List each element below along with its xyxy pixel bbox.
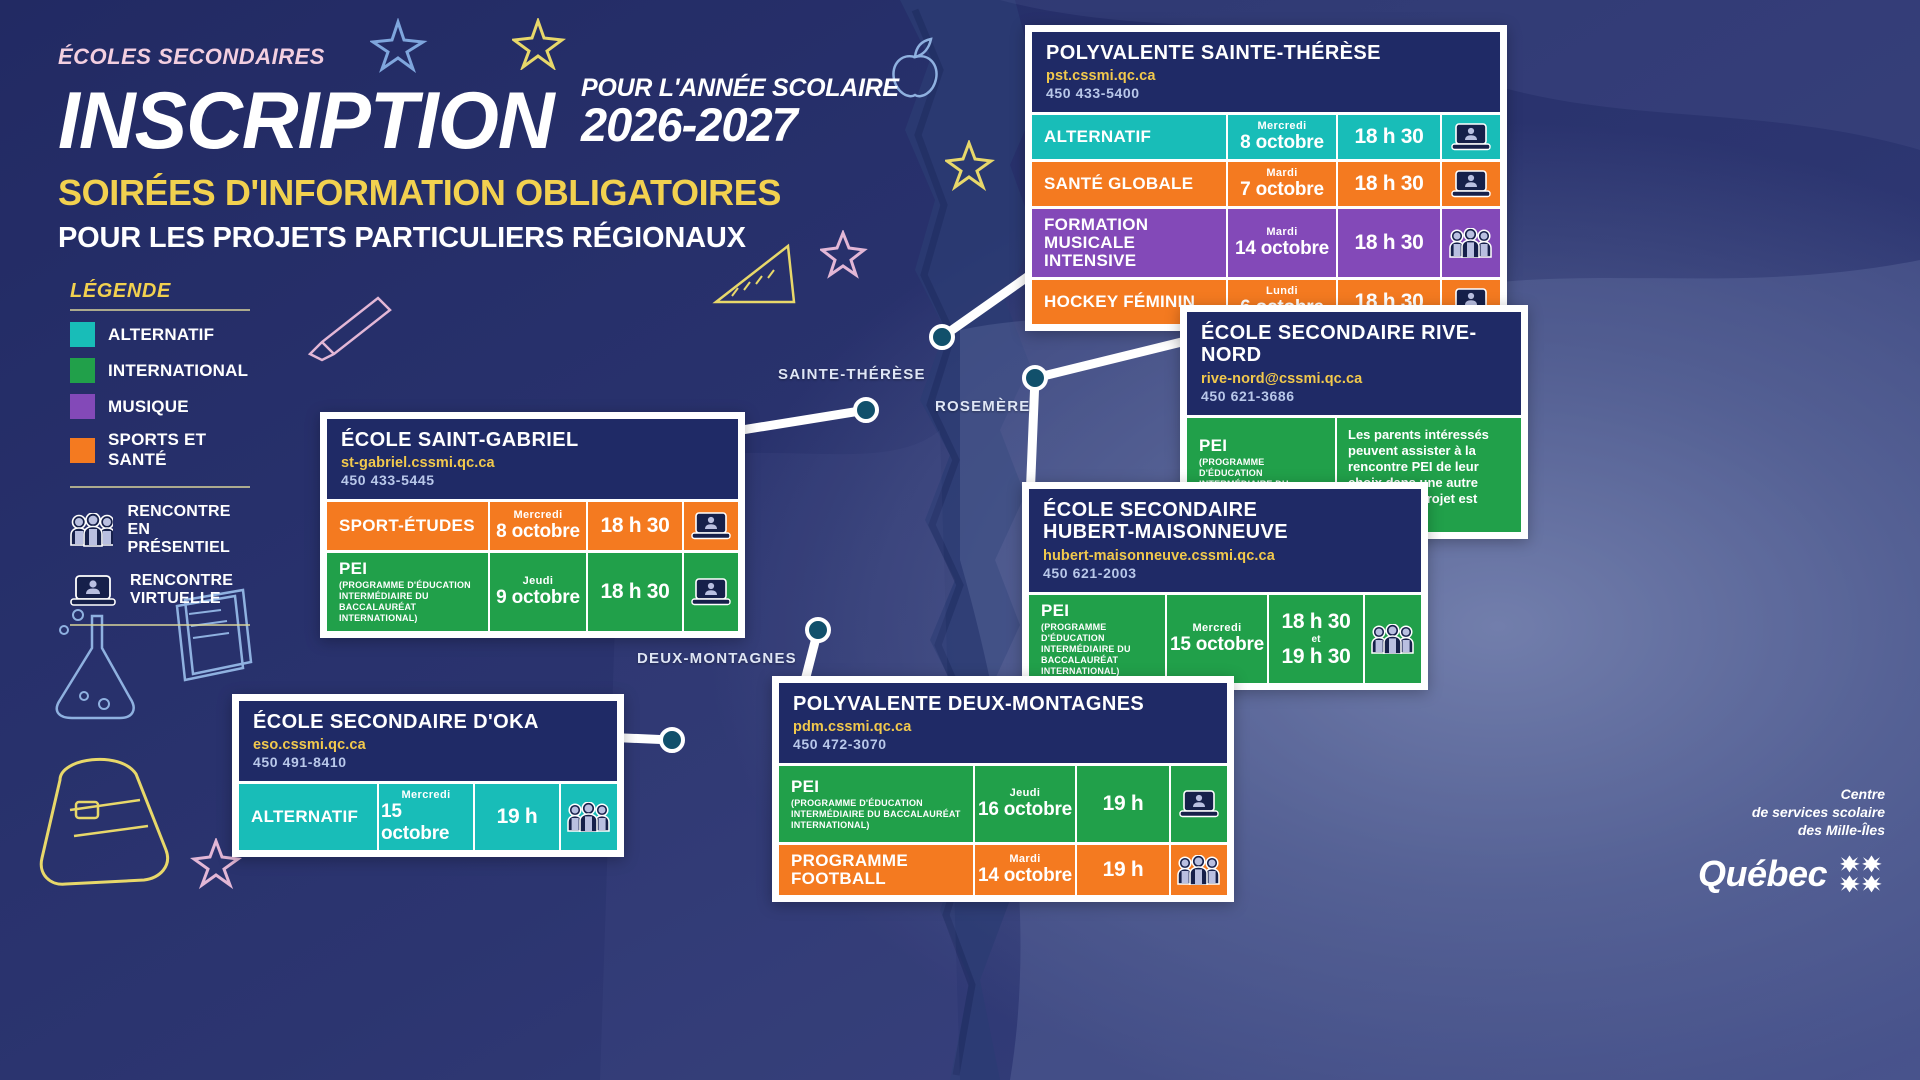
program-date-cell: Mardi 14 octobre [1226,209,1338,277]
school-card-hubert-maisonneuve: ÉCOLE SECONDAIRE HUBERT-MAISONNEUVE hube… [1022,482,1428,690]
laptop-icon [1451,169,1491,199]
school-email[interactable]: rive-nord@cssmi.qc.ca [1201,371,1507,387]
card-header-oka: ÉCOLE SECONDAIRE D'OKA eso.cssmi.qc.ca 4… [239,701,617,781]
date-day: 15 octobre [1170,634,1264,656]
program-row-sante-globale: SANTÉ GLOBALE Mardi 7 octobre 18 h 30 [1032,162,1500,206]
program-name-cell: SPORT-ÉTUDES [327,502,488,550]
date-day: 8 octobre [496,521,580,543]
meeting-type-cell [1442,162,1500,206]
header-kicker: ÉCOLES SECONDAIRES [58,44,958,70]
people-icon [1371,624,1415,654]
school-website[interactable]: pst.cssmi.qc.ca [1046,68,1486,84]
date-weekday: Mercredi [1257,120,1306,132]
school-phone: 450 472-3070 [793,736,1213,752]
school-website[interactable]: eso.cssmi.qc.ca [253,737,603,753]
map-pin-oka [659,727,685,753]
school-card-pdm: POLYVALENTE DEUX-MONTAGNES pdm.cssmi.qc.… [772,676,1234,902]
page-subtitle: SOIRÉES D'INFORMATION OBLIGATOIRES [58,172,958,214]
people-icon [70,513,113,547]
date-day: 15 octobre [381,801,471,845]
program-row-pei: PEI (PROGRAMME D'ÉDUCATION INTERMÉDIAIRE… [327,553,738,631]
program-name-cell: SANTÉ GLOBALE [1032,162,1226,206]
program-date-cell: Mercredi 8 octobre [1226,115,1338,159]
school-phone: 450 433-5400 [1046,85,1486,101]
date-weekday: Mercredi [513,509,562,521]
school-name: ÉCOLE SAINT-GABRIEL [341,429,724,451]
city-label-sainte-therese: SAINTE-THÉRÈSE [778,366,926,383]
school-card-pst: POLYVALENTE SAINTE-THÉRÈSE pst.cssmi.qc.… [1025,25,1507,331]
poster-root: SAINTE-THÉRÈSE ROSEMÈRE DEUX-MONTAGNES O… [0,0,1920,1080]
program-date-cell: Mercredi 15 octobre [1165,595,1269,684]
program-label: PEI [1199,437,1323,455]
meeting-type-cell [684,502,738,550]
people-icon [567,802,611,832]
school-phone: 450 621-2003 [1043,565,1407,581]
date-weekday: Mercredi [1192,622,1241,634]
legend-label-musique: MUSIQUE [108,397,189,417]
cssmi-line-1: Centre [1585,785,1885,803]
card-header-pst: POLYVALENTE SAINTE-THÉRÈSE pst.cssmi.qc.… [1032,32,1500,112]
people-icon [1449,228,1493,258]
date-day: 7 octobre [1240,179,1324,201]
school-phone: 450 621-3686 [1201,388,1507,404]
school-name: POLYVALENTE DEUX-MONTAGNES [793,693,1213,715]
card-header-hubert-maisonneuve: ÉCOLE SECONDAIRE HUBERT-MAISONNEUVE hube… [1029,489,1421,592]
school-card-st-gabriel: ÉCOLE SAINT-GABRIEL st-gabriel.cssmi.qc.… [320,412,745,638]
school-name: ÉCOLE SECONDAIRE HUBERT-MAISONNEUVE [1043,499,1333,544]
people-icon [1177,855,1221,885]
page-title: INSCRIPTION [58,85,554,158]
program-label: SPORT-ÉTUDES [339,517,476,535]
school-website[interactable]: hubert-maisonneuve.cssmi.qc.ca [1043,548,1407,564]
map-pin-saint-gabriel [853,397,879,423]
city-label-rosemere: ROSEMÈRE [935,398,1030,415]
cssmi-line-3: des Mille-Îles [1585,821,1885,839]
map-pin-deux-montagnes [805,617,831,643]
legend-item-musique: MUSIQUE [70,394,250,419]
date-weekday: Lundi [1266,285,1298,297]
meeting-type-cell [1442,209,1500,277]
time-value: 19 h [1103,858,1144,882]
legend-divider-top [70,309,250,311]
school-card-oka: ÉCOLE SECONDAIRE D'OKA eso.cssmi.qc.ca 4… [232,694,624,857]
program-name-cell: FORMATION MUSICALE INTENSIVE [1032,209,1226,277]
program-date-cell: Mercredi 8 octobre [488,502,588,550]
date-weekday: Mercredi [401,789,450,801]
legend: LÉGENDE ALTERNATIF INTERNATIONAL MUSIQUE… [70,280,250,626]
program-name-cell: ALTERNATIF [239,784,377,850]
footer-logo: Centre de services scolaire des Mille-Îl… [1585,785,1885,896]
date-weekday: Jeudi [523,575,554,587]
school-website[interactable]: pdm.cssmi.qc.ca [793,719,1213,735]
program-time-cell: 18 h 30 et 19 h 30 [1269,595,1365,684]
meeting-type-cell [561,784,617,850]
program-date-cell: Jeudi 9 octobre [488,553,588,631]
laptop-icon [70,573,116,607]
date-weekday: Mardi [1266,167,1297,179]
legend-label-presentiel: RENCONTREEN PRÉSENTIEL [127,503,250,557]
legend-swatch-alternatif [70,322,95,347]
program-label: PEI [791,778,961,796]
map-pin-rosemere [1022,365,1048,391]
program-label: FORMATION MUSICALE INTENSIVE [1044,216,1214,270]
program-date-cell: Mardi 7 octobre [1226,162,1338,206]
time-value: 19 h [1103,792,1144,816]
program-time-cell: 18 h 30 [588,553,684,631]
program-time-cell: 18 h 30 [1338,162,1442,206]
program-label: PEI [1041,602,1153,620]
backpack-doodle [20,740,180,890]
date-day: 16 octobre [978,799,1072,821]
program-name-cell: PEI (PROGRAMME D'ÉDUCATION INTERMÉDIAIRE… [327,553,488,631]
meeting-type-cell [1171,845,1227,895]
program-row-formation-musicale: FORMATION MUSICALE INTENSIVE Mardi 14 oc… [1032,209,1500,277]
date-day: 14 octobre [1235,238,1329,260]
program-date-cell: Mercredi 15 octobre [377,784,475,850]
program-name-cell: PEI (PROGRAMME D'ÉDUCATION INTERMÉDIAIRE… [779,766,973,842]
page-header: ÉCOLES SECONDAIRES INSCRIPTION POUR L'AN… [58,44,958,255]
legend-swatch-musique [70,394,95,419]
program-name-cell: PROGRAMME FOOTBALL [779,845,973,895]
program-row-alternatif: ALTERNATIF Mercredi 8 octobre 18 h 30 [1032,115,1500,159]
legend-divider-bottom [70,624,250,626]
program-date-cell: Mardi 14 octobre [973,845,1077,895]
time-value: 18 h 30 [600,514,669,538]
time-value: 19 h [497,805,538,829]
time-separator: et [1312,634,1321,645]
legend-title: LÉGENDE [70,280,250,303]
quebec-flag-icon [1837,852,1885,896]
time-value: 18 h 30 [1354,125,1423,149]
program-label: SANTÉ GLOBALE [1044,175,1214,193]
legend-divider-mid [70,486,250,488]
meeting-type-cell [1365,595,1421,684]
city-label-deux-montagnes: DEUX-MONTAGNES [637,650,797,667]
date-day: 8 octobre [1240,132,1324,154]
date-weekday: Jeudi [1010,787,1041,799]
school-phone: 450 491-8410 [253,754,603,770]
laptop-icon [1179,789,1219,819]
legend-swatch-international [70,358,95,383]
date-weekday: Mardi [1009,853,1040,865]
program-time-cell: 18 h 30 [588,502,684,550]
program-row-pei: PEI (PROGRAMME D'ÉDUCATION INTERMÉDIAIRE… [1029,595,1421,684]
program-time-cell: 19 h [475,784,561,850]
program-time-cell: 19 h [1077,766,1171,842]
laptop-icon [691,577,731,607]
time-value: 18 h 30 [1354,231,1423,255]
program-time-cell: 18 h 30 [1338,115,1442,159]
time-value: 18 h 30 [1354,172,1423,196]
program-date-cell: Jeudi 16 octobre [973,766,1077,842]
legend-label-alternatif: ALTERNATIF [108,325,214,345]
legend-item-alternatif: ALTERNATIF [70,322,250,347]
school-name: ÉCOLE SECONDAIRE D'OKA [253,711,603,733]
legend-item-presentiel: RENCONTREEN PRÉSENTIEL [70,503,250,557]
program-label: ALTERNATIF [251,808,365,826]
program-sublabel: (PROGRAMME D'ÉDUCATION INTERMÉDIAIRE DU … [339,580,476,624]
card-header-pdm: POLYVALENTE DEUX-MONTAGNES pdm.cssmi.qc.… [779,683,1227,763]
school-phone: 450 433-5445 [341,472,724,488]
cssmi-wordmark: Centre de services scolaire des Mille-Îl… [1585,785,1885,840]
time-value-2: 19 h 30 [1281,645,1350,669]
school-website[interactable]: st-gabriel.cssmi.qc.ca [341,455,724,471]
program-time-cell: 18 h 30 [1338,209,1442,277]
legend-swatch-sports [70,438,95,463]
program-label: PEI [339,560,476,578]
program-row-football: PROGRAMME FOOTBALL Mardi 14 octobre 19 h [779,845,1227,895]
legend-label-virtuelle: RENCONTREVIRTUELLE [130,572,233,608]
legend-label-international: INTERNATIONAL [108,361,248,381]
time-value: 18 h 30 [1281,610,1350,634]
program-row-sport-etudes: SPORT-ÉTUDES Mercredi 8 octobre 18 h 30 [327,502,738,550]
legend-label-sports: SPORTS ET SANTÉ [108,430,250,470]
program-name-cell: PEI (PROGRAMME D'ÉDUCATION INTERMÉDIAIRE… [1029,595,1165,684]
meeting-type-cell [1442,115,1500,159]
program-label: ALTERNATIF [1044,128,1214,146]
quebec-wordmark: Québec [1698,853,1827,895]
date-weekday: Mardi [1266,226,1297,238]
time-value: 18 h 30 [600,580,669,604]
card-header-st-gabriel: ÉCOLE SAINT-GABRIEL st-gabriel.cssmi.qc.… [327,419,738,499]
program-name-cell: ALTERNATIF [1032,115,1226,159]
pencil-doodle [300,290,400,365]
program-row-alternatif: ALTERNATIF Mercredi 15 octobre 19 h [239,784,617,850]
map-pin-sainte-therese [929,324,955,350]
card-header-rive-nord: ÉCOLE SECONDAIRE RIVE-NORD rive-nord@css… [1187,312,1521,415]
date-day: 9 octobre [496,587,580,609]
legend-item-virtuelle: RENCONTREVIRTUELLE [70,572,250,608]
cssmi-line-2: de services scolaire [1585,803,1885,821]
program-sublabel: (PROGRAMME D'ÉDUCATION INTERMÉDIAIRE DU … [791,798,961,831]
program-sublabel: (PROGRAMME D'ÉDUCATION INTERMÉDIAIRE DU … [1041,622,1153,677]
program-label: PROGRAMME FOOTBALL [791,852,961,888]
school-name: ÉCOLE SECONDAIRE RIVE-NORD [1201,322,1507,367]
school-name: POLYVALENTE SAINTE-THÉRÈSE [1046,42,1486,64]
legend-item-sports: SPORTS ET SANTÉ [70,430,250,470]
date-day: 14 octobre [978,865,1072,887]
page-subtitle-2: POUR LES PROJETS PARTICULIERS RÉGIONAUX [58,222,958,255]
program-time-cell: 19 h [1077,845,1171,895]
laptop-icon [1451,122,1491,152]
laptop-icon [691,511,731,541]
legend-item-international: INTERNATIONAL [70,358,250,383]
school-year: 2026-2027 [581,103,899,148]
program-row-pei: PEI (PROGRAMME D'ÉDUCATION INTERMÉDIAIRE… [779,766,1227,842]
meeting-type-cell [1171,766,1227,842]
meeting-type-cell [684,553,738,631]
